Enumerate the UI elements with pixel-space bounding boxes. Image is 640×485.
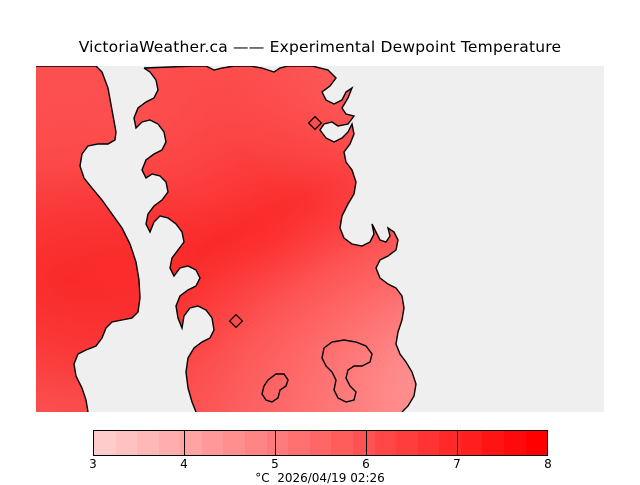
colorbar-swatch-17 — [461, 431, 483, 455]
colorbar-ticklabel-8: 8 — [544, 457, 552, 471]
colorbar-swatch-5 — [202, 431, 224, 455]
dewpoint-map — [36, 66, 604, 412]
colorbar-swatch-11 — [331, 431, 353, 455]
colorbar: 345678 °C 2026/04/19 02:26 — [0, 426, 640, 480]
colorbar-swatch-19 — [504, 431, 526, 455]
colorbar-swatch-18 — [482, 431, 504, 455]
colorbar-ticklabel-5: 5 — [271, 457, 279, 471]
colorbar-swatch-8 — [267, 431, 289, 455]
colorbar-caption: °C 2026/04/19 02:26 — [0, 471, 640, 485]
colorbar-swatch-13 — [375, 431, 397, 455]
colorbar-swatch-15 — [418, 431, 440, 455]
colorbar-tickline-5 — [275, 430, 276, 456]
colorbar-swatch-3 — [159, 431, 181, 455]
map-canvas — [36, 66, 604, 412]
colorbar-ticklabel-6: 6 — [362, 457, 370, 471]
colorbar-swatch-2 — [137, 431, 159, 455]
colorbar-swatch-1 — [116, 431, 138, 455]
colorbar-swatch-14 — [396, 431, 418, 455]
colorbar-ticklabel-4: 4 — [180, 457, 188, 471]
colorbar-gradient-strip — [93, 430, 548, 456]
colorbar-swatch-20 — [526, 431, 548, 455]
colorbar-ticklabel-3: 3 — [89, 457, 97, 471]
colorbar-tickline-7 — [457, 430, 458, 456]
colorbar-swatch-6 — [223, 431, 245, 455]
colorbar-tickline-4 — [184, 430, 185, 456]
colorbar-swatch-0 — [94, 431, 116, 455]
page-title: VictoriaWeather.ca —— Experimental Dewpo… — [0, 38, 640, 56]
colorbar-swatch-10 — [310, 431, 332, 455]
colorbar-tickline-6 — [366, 430, 367, 456]
colorbar-swatch-12 — [353, 431, 375, 455]
colorbar-swatch-7 — [245, 431, 267, 455]
colorbar-swatch-9 — [288, 431, 310, 455]
colorbar-ticklabel-7: 7 — [453, 457, 461, 471]
